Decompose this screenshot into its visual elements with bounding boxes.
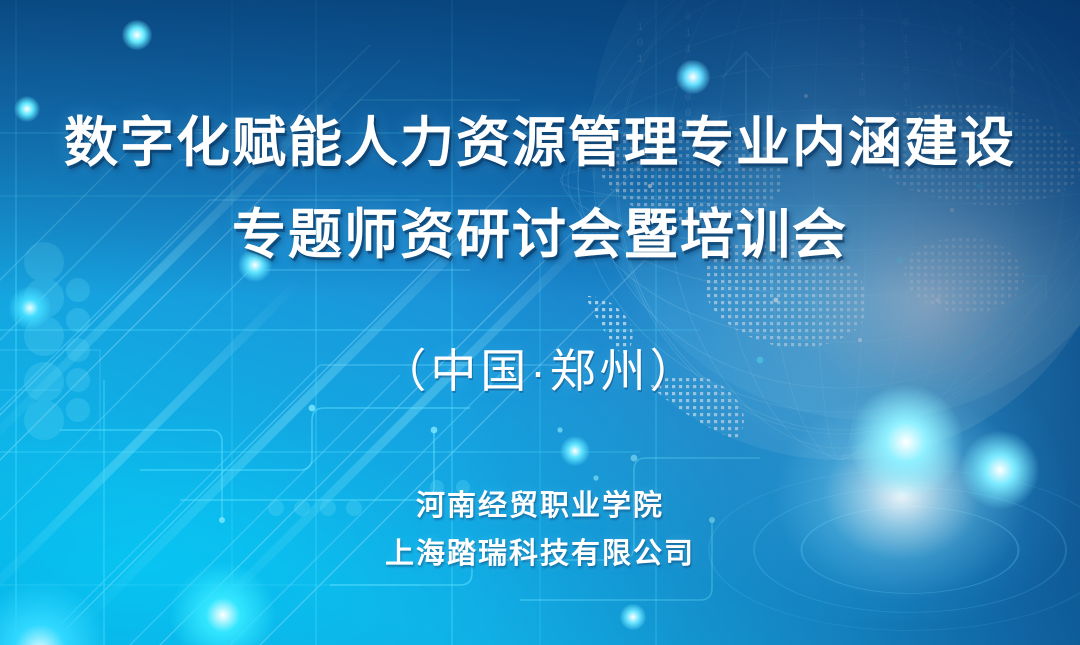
event-location: （中国·郑州） bbox=[0, 348, 1080, 394]
poster-content: 数字化赋能人力资源管理专业内涵建设 专题师资研讨会暨培训会 （中国·郑州） 河南… bbox=[0, 0, 1080, 645]
title-line-2: 专题师资研讨会暨培训会 bbox=[0, 208, 1080, 262]
organizer-2: 上海踏瑞科技有限公司 bbox=[0, 540, 1080, 569]
organizer-1: 河南经贸职业学院 bbox=[0, 492, 1080, 521]
event-poster: 011 010 01 100 110 011 001 110 100 010 1… bbox=[0, 0, 1080, 645]
poster-title: 数字化赋能人力资源管理专业内涵建设 专题师资研讨会暨培训会 bbox=[0, 116, 1080, 262]
title-line-1: 数字化赋能人力资源管理专业内涵建设 bbox=[0, 116, 1080, 170]
organizer-list: 河南经贸职业学院 上海踏瑞科技有限公司 bbox=[0, 492, 1080, 569]
